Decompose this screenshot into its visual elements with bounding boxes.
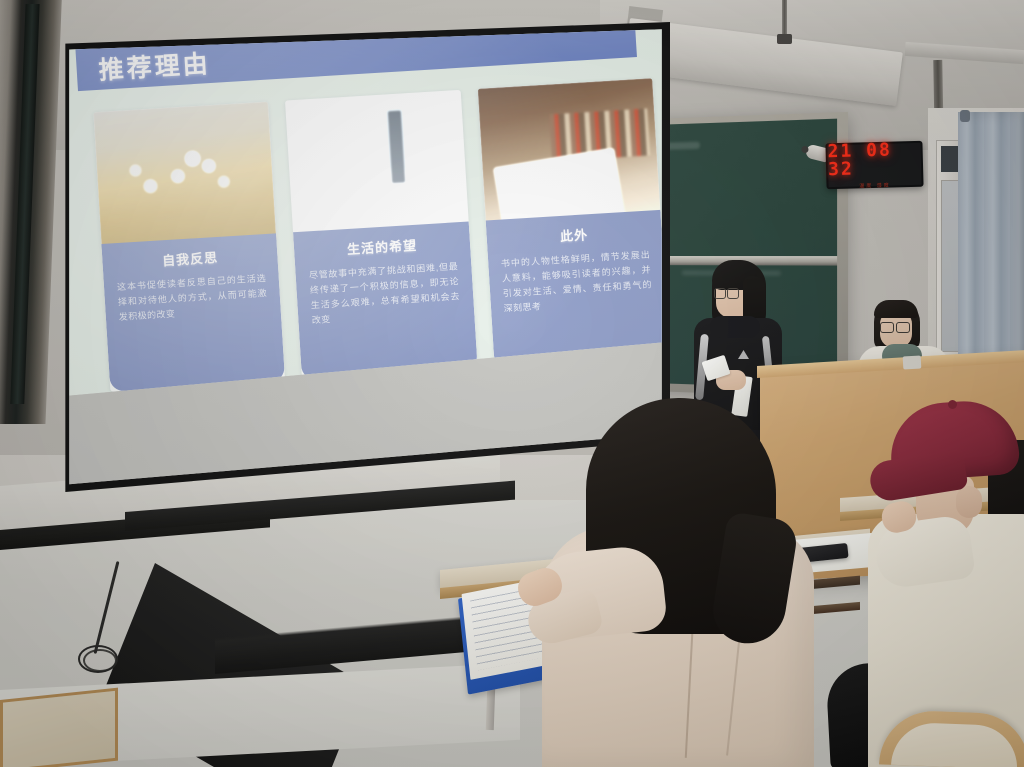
digital-clock: 21 08 32 温度 湿度 <box>825 141 923 190</box>
slide-card: 自我反思 这本书促使读者反思自己的生活选择和对待他人的方式，从而可能激发积极的改… <box>93 102 285 392</box>
snowy-landscape-photo-icon <box>285 90 468 238</box>
flowers-photo-icon <box>93 102 276 250</box>
slide-card-row: 自我反思 这本书促使读者反思自己的生活选择和对待他人的方式，从而可能激发积极的改… <box>93 78 666 392</box>
card-text: 尽管故事中充满了挑战和困难,但最终传递了一个积极的信息，即无论生活多么艰难，总有… <box>309 259 462 327</box>
card-text: 书中的人物性格鲜明，情节发展出人意料，能够吸引读者的兴趣，并引发对生活、爱情、责… <box>501 248 654 316</box>
cap-student-ear <box>956 486 982 518</box>
ceiling-rod-tip <box>777 34 792 44</box>
card-photo-landscape <box>285 90 468 238</box>
slide-card: 此外 书中的人物性格鲜明，情节发展出人意料，能够吸引读者的兴趣，并引发对生活、爱… <box>477 78 666 368</box>
left-window-glass <box>10 4 39 404</box>
card-body: 自我反思 这本书促使读者反思自己的生活选择和对待他人的方式，从而可能激发积极的改… <box>101 233 285 391</box>
classroom-scene: 21 08 32 温度 湿度 推荐理由 <box>0 0 1024 767</box>
chair-backrest-panel <box>891 722 1018 767</box>
student-front-cap <box>860 390 1024 767</box>
left-foreground-desk <box>0 688 118 767</box>
clock-sublabel: 温度 湿度 <box>859 181 891 189</box>
coiled-cable <box>78 645 124 675</box>
card-heading: 自我反思 <box>115 244 265 272</box>
podium-item <box>903 356 922 370</box>
cap-button <box>948 400 957 409</box>
card-photo-book <box>477 78 660 226</box>
curtain-hook <box>960 110 970 122</box>
card-heading: 此外 <box>499 221 649 249</box>
card-body: 生活的希望 尽管故事中充满了挑战和困难,但最终传递了一个积极的信息，即无论生活多… <box>293 222 477 380</box>
card-body: 此外 书中的人物性格鲜明，情节发展出人意料，能够吸引读者的兴趣，并引发对生活、爱… <box>485 210 666 368</box>
glasses-icon <box>880 322 910 331</box>
card-photo-flowers <box>93 102 276 250</box>
slide-card: 生活的希望 尽管故事中充满了挑战和困难,但最终传递了一个积极的信息，即无论生活多… <box>285 90 477 380</box>
open-book-photo-icon <box>477 78 660 226</box>
assistant-fringe <box>874 300 918 318</box>
card-text: 这本书促使读者反思自己的生活选择和对待他人的方式，从而可能激发积极的改变 <box>117 271 269 325</box>
glasses-icon <box>714 288 738 297</box>
student-front-beige <box>540 398 830 767</box>
card-heading: 生活的希望 <box>307 232 457 260</box>
presenter-hood <box>710 316 760 338</box>
slide-title: 推荐理由 <box>98 44 212 87</box>
clock-time: 21 08 32 <box>827 140 921 178</box>
ceiling-hanging-rod <box>782 0 787 38</box>
